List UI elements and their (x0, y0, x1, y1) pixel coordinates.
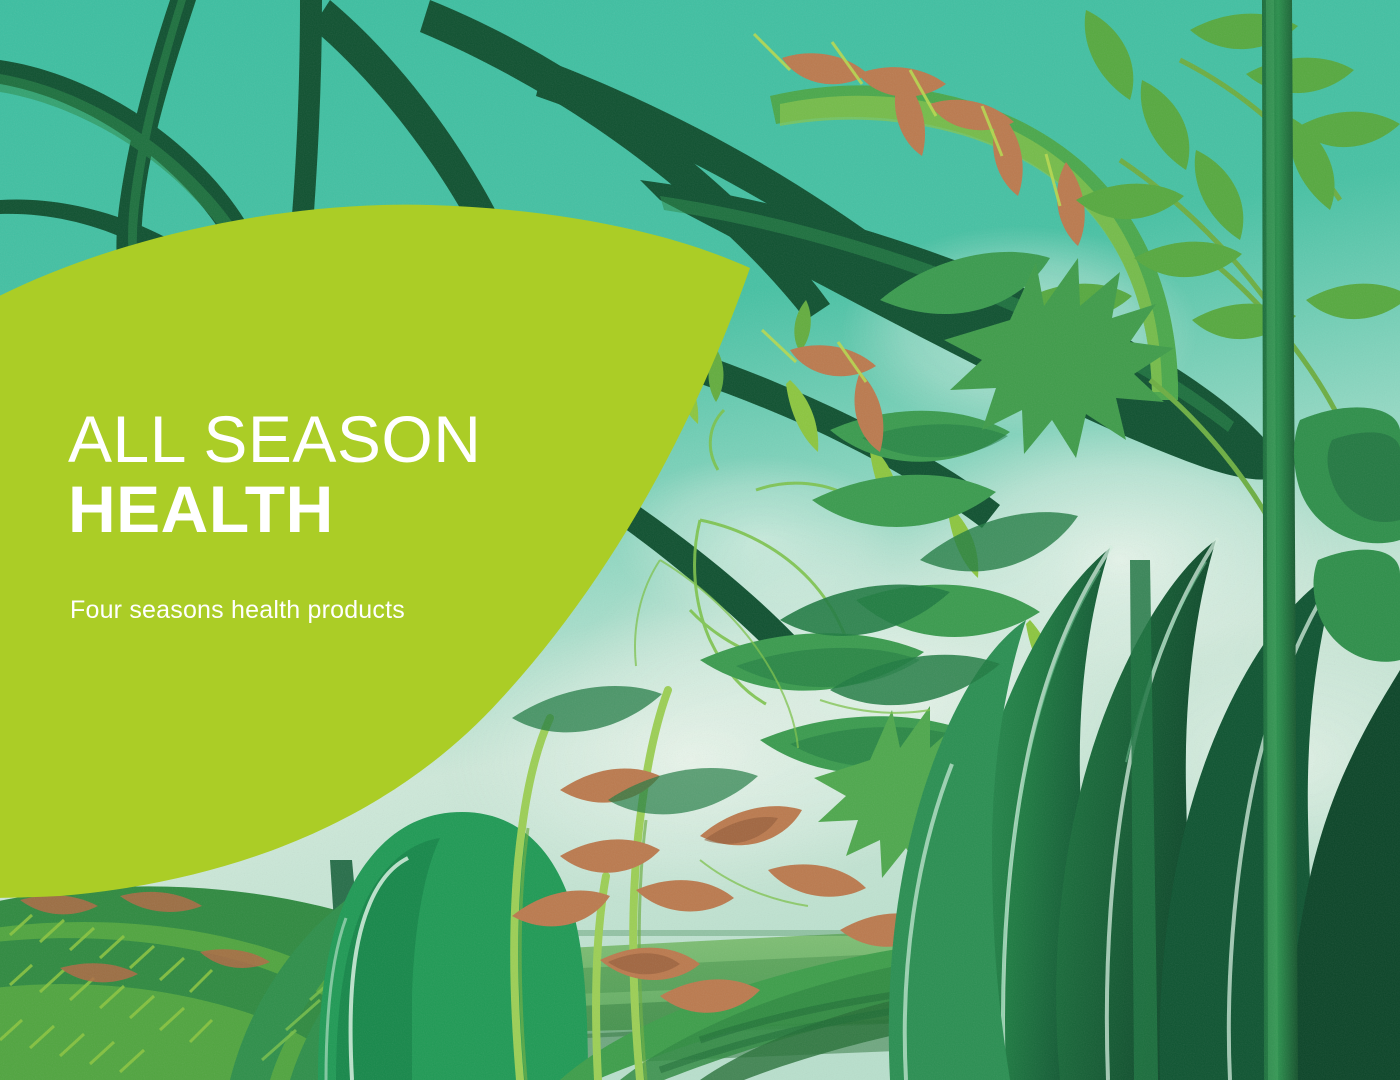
headline-line-2: HEALTH (68, 474, 628, 544)
headline-line-1: ALL SEASON (68, 404, 628, 474)
headline-block: ALL SEASON HEALTH (68, 404, 628, 544)
poster-canvas: ALL SEASON HEALTH Four seasons health pr… (0, 0, 1400, 1080)
subtitle-text: Four seasons health products (70, 594, 405, 626)
